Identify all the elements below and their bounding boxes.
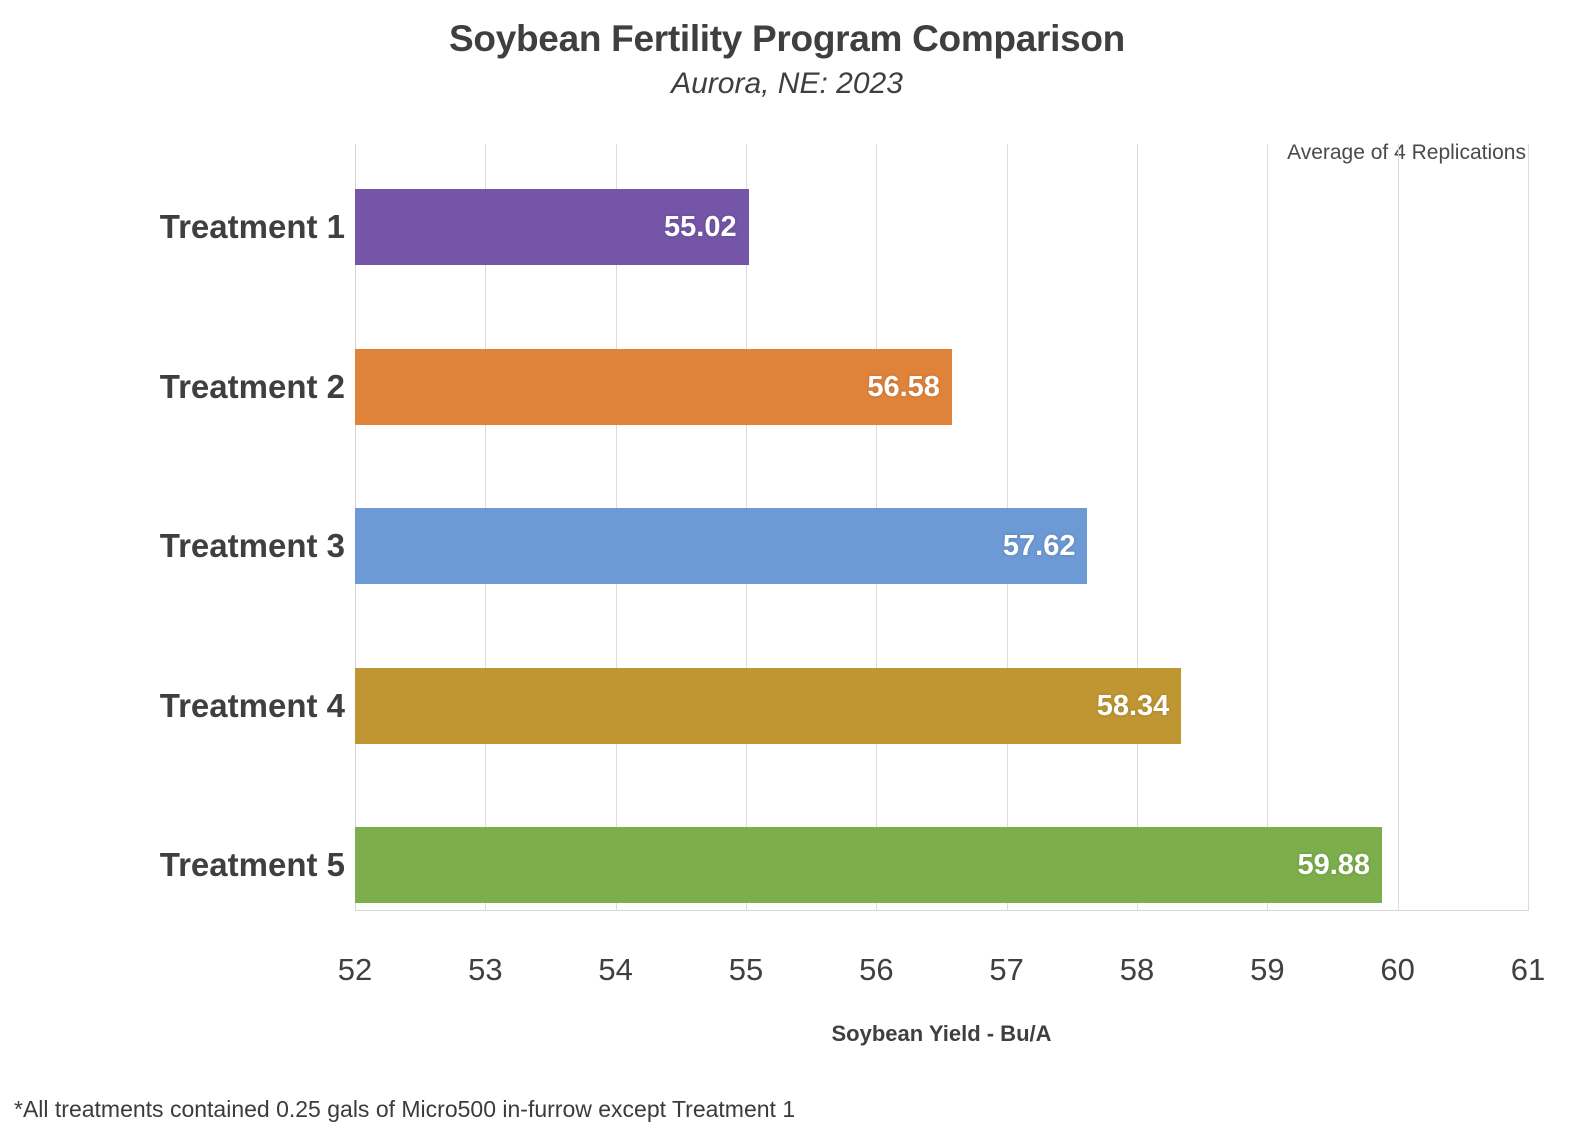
x-axis-line: [355, 910, 1529, 911]
bar-value-label: 58.34: [1097, 668, 1170, 744]
bar-treatment-4[interactable]: 58.34: [355, 668, 1181, 744]
x-tick-label-55: 55: [706, 952, 786, 988]
bar-value-label: 56.58: [867, 349, 940, 425]
x-tick-label-52: 52: [315, 952, 395, 988]
category-label-treatment-4: Treatment 4: [15, 668, 345, 744]
gridline-61: [1528, 144, 1529, 910]
x-axis-title: Soybean Yield - Bu/A: [355, 1021, 1528, 1047]
bar-treatment-1[interactable]: 55.02: [355, 189, 749, 265]
chart-subtitle: Aurora, NE: 2023: [0, 67, 1574, 102]
bar-value-label: 59.88: [1297, 827, 1370, 903]
x-tick-label-60: 60: [1358, 952, 1438, 988]
x-tick-label-57: 57: [967, 952, 1047, 988]
bar-row: 57.62: [355, 508, 1528, 584]
page-title: Soybean Fertility Program Comparison: [0, 18, 1574, 61]
chart-title-block: Soybean Fertility Program Comparison Aur…: [0, 18, 1574, 101]
bar-row: 58.34: [355, 668, 1528, 744]
x-tick-label-53: 53: [445, 952, 525, 988]
category-label-treatment-5: Treatment 5: [15, 827, 345, 903]
plot-area: 55.0256.5857.6258.3459.88: [355, 144, 1528, 910]
bar-value-label: 57.62: [1003, 508, 1076, 584]
x-tick-label-61: 61: [1488, 952, 1568, 988]
category-label-treatment-3: Treatment 3: [15, 508, 345, 584]
bar-treatment-3[interactable]: 57.62: [355, 508, 1087, 584]
category-label-treatment-1: Treatment 1: [15, 189, 345, 265]
category-label-treatment-2: Treatment 2: [15, 349, 345, 425]
x-tick-label-58: 58: [1097, 952, 1177, 988]
x-tick-label-56: 56: [836, 952, 916, 988]
bar-row: 55.02: [355, 189, 1528, 265]
chart-footnote: *All treatments contained 0.25 gals of M…: [14, 1096, 795, 1123]
bar-row: 59.88: [355, 827, 1528, 903]
x-tick-label-59: 59: [1227, 952, 1307, 988]
bar-value-label: 55.02: [664, 189, 737, 265]
bar-treatment-2[interactable]: 56.58: [355, 349, 952, 425]
bar-treatment-5[interactable]: 59.88: [355, 827, 1382, 903]
x-tick-label-54: 54: [576, 952, 656, 988]
bar-row: 56.58: [355, 349, 1528, 425]
